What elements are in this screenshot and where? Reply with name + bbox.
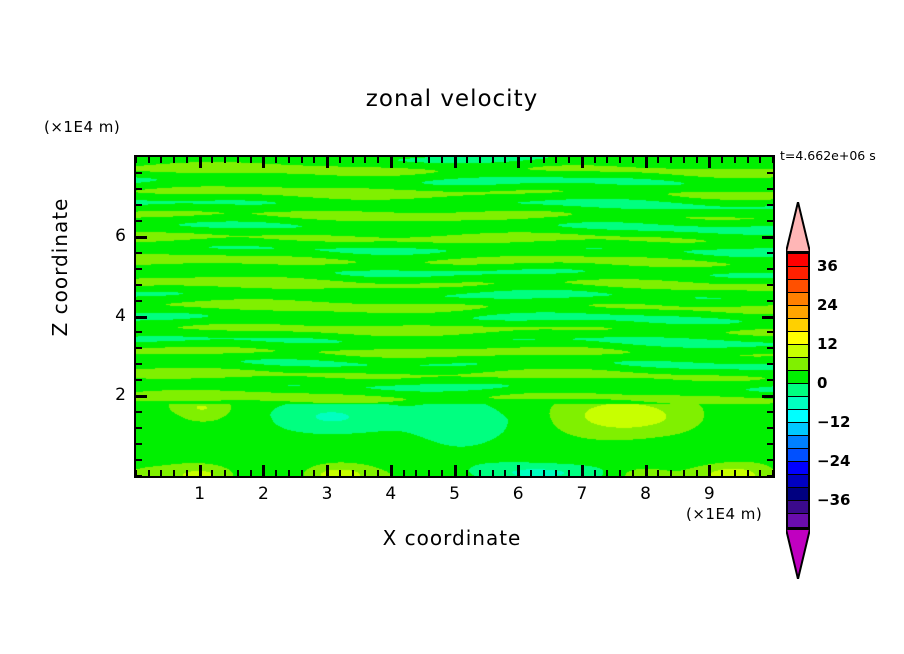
x-tick	[492, 470, 494, 476]
y-tick-label: 2	[86, 385, 126, 405]
y-tick-right	[767, 411, 773, 413]
x-tick	[441, 470, 443, 476]
x-tick-top	[403, 157, 405, 163]
x-tick	[224, 470, 226, 476]
x-tick-top	[364, 157, 366, 163]
x-tick-label: 2	[243, 484, 283, 504]
y-tick-right	[767, 252, 773, 254]
y-tick	[136, 411, 142, 413]
y-tick	[136, 284, 142, 286]
x-tick-top	[670, 157, 672, 163]
x-tick	[606, 470, 608, 476]
x-tick	[199, 465, 202, 476]
colorbar-segment	[788, 293, 808, 306]
x-tick	[313, 470, 315, 476]
colorbar-label: −24	[817, 452, 850, 470]
x-tick-top	[377, 157, 379, 163]
x-tick	[645, 465, 648, 476]
x-tick-label: 9	[689, 484, 729, 504]
x-tick	[186, 470, 188, 476]
colorbar-segment	[788, 280, 808, 293]
x-tick-top	[390, 157, 393, 168]
x-axis-title: X coordinate	[0, 526, 904, 550]
y-tick-label: 4	[86, 306, 126, 326]
colorbar-segment	[788, 319, 808, 332]
x-tick-top	[466, 157, 468, 163]
x-tick	[708, 465, 711, 476]
x-tick	[543, 470, 545, 476]
x-tick-top	[747, 157, 749, 163]
x-tick-top	[645, 157, 648, 168]
x-tick	[148, 470, 150, 476]
x-tick-top	[504, 157, 506, 163]
x-tick-top	[339, 157, 341, 163]
y-tick	[136, 347, 142, 349]
y-tick	[136, 236, 147, 239]
x-tick	[415, 470, 417, 476]
x-tick-top	[415, 157, 417, 163]
x-tick-top	[696, 157, 698, 163]
x-tick	[619, 470, 621, 476]
colorbar-segment	[788, 436, 808, 449]
y-tick	[136, 443, 142, 445]
x-tick	[594, 470, 596, 476]
x-tick-top	[530, 157, 532, 163]
timestamp-annotation: t=4.662e+06 s	[780, 148, 876, 163]
y-axis-title: Z coordinate	[48, 177, 72, 357]
x-tick	[262, 465, 265, 476]
x-tick	[683, 470, 685, 476]
x-tick-top	[543, 157, 545, 163]
colorbar-segment	[788, 371, 808, 384]
x-tick	[352, 470, 354, 476]
x-tick	[504, 470, 506, 476]
colorbar-label: −36	[817, 491, 850, 509]
colorbar-label: 0	[817, 374, 827, 392]
y-tick-right	[767, 284, 773, 286]
y-tick-right	[767, 379, 773, 381]
x-tick-top	[594, 157, 596, 163]
x-tick	[301, 470, 303, 476]
colorbar-segment	[788, 267, 808, 280]
x-tick	[454, 465, 457, 476]
page-title: zonal velocity	[0, 86, 904, 112]
x-tick	[428, 470, 430, 476]
y-tick	[136, 475, 142, 477]
x-tick	[721, 470, 723, 476]
colorbar-segment	[788, 384, 808, 397]
x-tick	[339, 470, 341, 476]
colorbar-segment	[788, 345, 808, 358]
x-tick	[581, 465, 584, 476]
colorbar-segment	[788, 306, 808, 319]
x-tick-top	[237, 157, 239, 163]
x-tick	[657, 470, 659, 476]
y-tick-right	[767, 347, 773, 349]
x-tick-top	[606, 157, 608, 163]
x-axis-unit-label: (×1E4 m)	[686, 505, 762, 523]
x-tick	[275, 470, 277, 476]
colorbar-label: 12	[817, 335, 838, 353]
y-tick-right	[767, 475, 773, 477]
colorbar-segment	[788, 501, 808, 514]
x-tick-top	[657, 157, 659, 163]
y-tick	[136, 379, 142, 381]
x-tick-top	[581, 157, 584, 168]
x-tick	[403, 470, 405, 476]
colorbar-segment	[788, 397, 808, 410]
x-tick-top	[683, 157, 685, 163]
x-tick	[250, 470, 252, 476]
x-tick-top	[301, 157, 303, 163]
y-tick-right	[767, 443, 773, 445]
x-tick-top	[772, 157, 774, 163]
x-tick-top	[288, 157, 290, 163]
x-tick	[555, 470, 557, 476]
x-tick-label: 7	[562, 484, 602, 504]
colorbar-segment	[788, 410, 808, 423]
x-tick	[568, 470, 570, 476]
y-tick-right	[767, 331, 773, 333]
x-tick-label: 1	[180, 484, 220, 504]
x-tick-top	[173, 157, 175, 163]
colorbar-segment	[788, 514, 808, 527]
x-tick	[364, 470, 366, 476]
x-tick-top	[326, 157, 329, 168]
x-tick-top	[517, 157, 520, 168]
x-tick-top	[721, 157, 723, 163]
x-tick	[479, 470, 481, 476]
x-tick-top	[708, 157, 711, 168]
colorbar: 3624120−12−24−36	[781, 200, 901, 520]
colorbar-segment	[788, 462, 808, 475]
x-tick	[211, 470, 213, 476]
x-tick	[288, 470, 290, 476]
x-tick	[160, 470, 162, 476]
x-tick-top	[734, 157, 736, 163]
contour-plot-area	[134, 155, 775, 478]
x-tick-top	[250, 157, 252, 163]
x-tick	[390, 465, 393, 476]
x-tick	[696, 470, 698, 476]
y-tick	[136, 363, 142, 365]
x-tick	[632, 470, 634, 476]
y-tick-right	[762, 236, 773, 239]
x-tick-label: 6	[498, 484, 538, 504]
x-tick-top	[199, 157, 202, 168]
colorbar-label: 24	[817, 296, 838, 314]
x-tick-top	[428, 157, 430, 163]
colorbar-segment	[788, 475, 808, 488]
colorbar-segment	[788, 358, 808, 371]
x-tick-top	[224, 157, 226, 163]
y-tick-right	[762, 316, 773, 319]
y-tick-right	[767, 204, 773, 206]
y-tick	[136, 172, 142, 174]
x-tick-top	[441, 157, 443, 163]
x-tick	[734, 470, 736, 476]
y-tick	[136, 188, 142, 190]
x-tick	[237, 470, 239, 476]
y-tick-right	[767, 300, 773, 302]
x-tick-label: 5	[435, 484, 475, 504]
x-tick	[517, 465, 520, 476]
x-tick-top	[148, 157, 150, 163]
x-tick-top	[619, 157, 621, 163]
x-tick	[530, 470, 532, 476]
colorbar-segment	[788, 423, 808, 436]
colorbar-label: 36	[817, 257, 838, 275]
x-tick-label: 3	[307, 484, 347, 504]
colorbar-segment	[788, 449, 808, 462]
x-tick	[759, 470, 761, 476]
x-tick	[747, 470, 749, 476]
x-tick-top	[759, 157, 761, 163]
x-tick-top	[454, 157, 457, 168]
x-tick-label: 4	[371, 484, 411, 504]
y-tick	[136, 316, 147, 319]
x-tick-top	[479, 157, 481, 163]
y-tick	[136, 427, 142, 429]
y-tick-right	[767, 363, 773, 365]
x-tick-top	[275, 157, 277, 163]
x-tick-top	[135, 157, 137, 163]
x-tick	[670, 470, 672, 476]
y-tick-right	[767, 427, 773, 429]
x-tick	[466, 470, 468, 476]
y-tick-right	[767, 459, 773, 461]
x-tick-label: 8	[626, 484, 666, 504]
y-tick-right	[767, 188, 773, 190]
y-tick-right	[762, 395, 773, 398]
y-tick-right	[767, 268, 773, 270]
y-tick-right	[767, 220, 773, 222]
colorbar-segment	[788, 332, 808, 345]
y-tick	[136, 220, 142, 222]
y-axis-unit-label: (×1E4 m)	[44, 118, 120, 136]
x-tick-top	[211, 157, 213, 163]
y-tick	[136, 204, 142, 206]
y-tick	[136, 252, 142, 254]
y-tick	[136, 300, 142, 302]
colorbar-segment	[788, 254, 808, 267]
y-tick	[136, 459, 142, 461]
colorbar-segment	[788, 488, 808, 501]
y-tick	[136, 268, 142, 270]
x-tick-top	[568, 157, 570, 163]
colorbar-under-cap	[786, 529, 810, 579]
y-tick	[136, 331, 142, 333]
x-tick-top	[492, 157, 494, 163]
x-tick-top	[352, 157, 354, 163]
over-triangle-icon	[786, 202, 810, 252]
x-tick-top	[186, 157, 188, 163]
x-tick-top	[555, 157, 557, 163]
x-tick	[377, 470, 379, 476]
x-tick-top	[262, 157, 265, 168]
y-tick-label: 6	[86, 226, 126, 246]
x-tick	[173, 470, 175, 476]
colorbar-over-cap	[786, 202, 810, 252]
x-tick-top	[160, 157, 162, 163]
x-tick-top	[632, 157, 634, 163]
y-tick	[136, 395, 147, 398]
y-tick-right	[767, 172, 773, 174]
x-tick-top	[313, 157, 315, 163]
contour-field-canvas	[136, 157, 773, 476]
colorbar-label: −12	[817, 413, 850, 431]
under-triangle-icon	[786, 529, 810, 579]
x-tick	[326, 465, 329, 476]
colorbar-bar	[786, 252, 810, 529]
